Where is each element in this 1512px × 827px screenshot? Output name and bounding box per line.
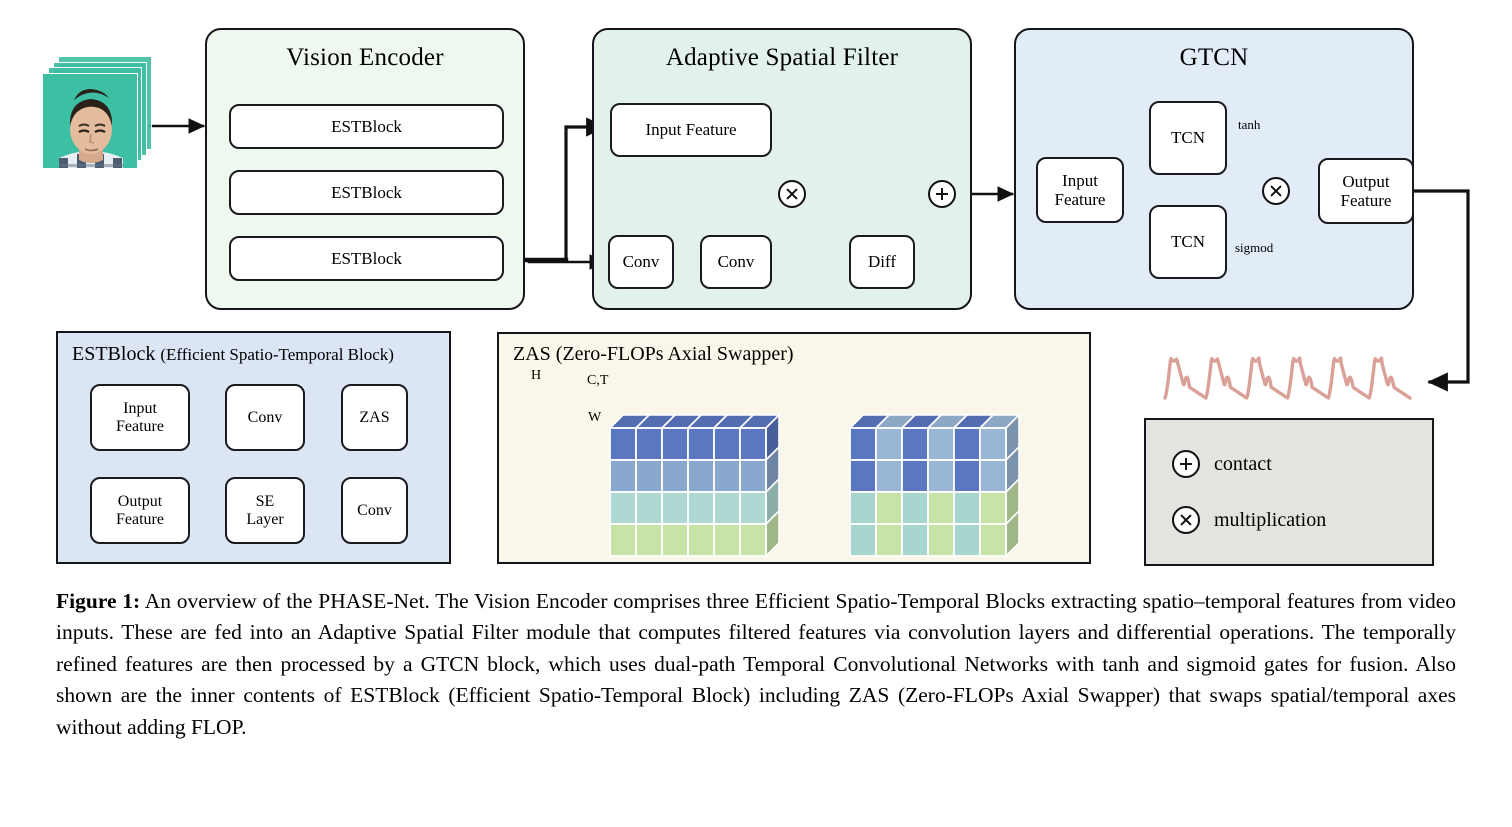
est-se-layer-label-line2: Layer — [246, 511, 283, 529]
est-input-feature-label-line2: Feature — [116, 418, 164, 436]
vision-encoder-module: Vision Encoder ESTBlock ESTBlock ESTBloc… — [205, 28, 525, 310]
gtcn-output-feature-node[interactable]: Output Feature — [1318, 158, 1414, 224]
estblock-panel-title-main: ESTBlock — [72, 343, 155, 365]
gtcn-input-feature-node[interactable]: Input Feature — [1036, 157, 1124, 223]
zas-panel-title: ZAS (Zero-FLOPs Axial Swapper) — [513, 343, 794, 366]
gtcn-output-feature-label-line2: Feature — [1341, 191, 1392, 210]
estblock-2[interactable]: ESTBlock — [229, 170, 504, 215]
gtcn-input-feature-label-line1: Input — [1062, 171, 1098, 190]
estblock-panel-title-sub: (Efficient Spatio-Temporal Block) — [160, 345, 394, 364]
plus-circle-icon — [1172, 450, 1200, 478]
asf-diff-label: Diff — [868, 252, 896, 271]
est-conv-bottom-node[interactable]: Conv — [341, 477, 408, 544]
est-conv-bottom-label: Conv — [357, 502, 392, 520]
est-zas-label: ZAS — [359, 409, 389, 427]
gtcn-tcn-top-label: TCN — [1171, 128, 1205, 147]
times-circle-icon — [1264, 179, 1288, 203]
legend-panel: contact multiplication — [1144, 418, 1434, 566]
zas-panel: ZAS (Zero-FLOPs Axial Swapper) — [497, 332, 1091, 564]
estblock-3-label: ESTBlock — [331, 249, 402, 268]
axis-h-label: H — [531, 368, 541, 384]
est-output-feature-label-line1: Output — [118, 493, 162, 511]
figure-caption: Figure 1: An overview of the PHASE-Net. … — [56, 586, 1456, 743]
times-circle-icon — [780, 182, 804, 206]
est-input-feature-node[interactable]: Input Feature — [90, 384, 190, 451]
plus-circle-icon — [930, 182, 954, 206]
est-conv-top-node[interactable]: Conv — [225, 384, 305, 451]
asf-conv-2-label: Conv — [718, 252, 755, 271]
legend-multiplication-label: multiplication — [1214, 509, 1326, 532]
estblock-2-label: ESTBlock — [331, 183, 402, 202]
est-input-feature-label-line1: Input — [123, 400, 157, 418]
times-circle-icon — [1172, 506, 1200, 534]
asf-input-feature-node[interactable]: Input Feature — [610, 103, 772, 157]
asf-diff-node[interactable]: Diff — [849, 235, 915, 289]
legend-item-contact: contact — [1172, 450, 1272, 478]
legend-item-multiplication: multiplication — [1172, 506, 1326, 534]
gtcn-tcn-bottom-node[interactable]: TCN — [1149, 205, 1227, 279]
axis-ct-label: C,T — [587, 373, 608, 389]
gtcn-tcn-bottom-label: TCN — [1171, 232, 1205, 251]
gtcn-output-feature-label-line1: Output — [1342, 172, 1389, 191]
asf-conv-1-label: Conv — [623, 252, 660, 271]
asf-conv-1-node[interactable]: Conv — [608, 235, 674, 289]
est-se-layer-label-line1: SE — [256, 493, 275, 511]
gtcn-title: GTCN — [1016, 44, 1412, 72]
figure-caption-text: An overview of the PHASE-Net. The Vision… — [56, 589, 1456, 739]
estblock-1[interactable]: ESTBlock — [229, 104, 504, 149]
asf-conv-2-node[interactable]: Conv — [700, 235, 772, 289]
estblock-1-label: ESTBlock — [331, 117, 402, 136]
est-se-layer-node[interactable]: SE Layer — [225, 477, 305, 544]
asf-multiplication-op — [778, 180, 806, 208]
gtcn-sigmod-gate-label: sigmod — [1235, 240, 1273, 256]
video-frame-stack — [42, 56, 158, 172]
gtcn-input-feature-label-line2: Feature — [1055, 190, 1106, 209]
est-zas-node[interactable]: ZAS — [341, 384, 408, 451]
adaptive-spatial-filter-title: Adaptive Spatial Filter — [594, 44, 970, 72]
est-output-feature-node[interactable]: Output Feature — [90, 477, 190, 544]
legend-contact-label: contact — [1214, 453, 1272, 476]
video-frame-0 — [42, 73, 138, 169]
asf-addition-op — [928, 180, 956, 208]
figure-caption-label: Figure 1: — [56, 589, 140, 613]
asf-input-feature-label: Input Feature — [645, 120, 736, 139]
estblock-3[interactable]: ESTBlock — [229, 236, 504, 281]
gtcn-tanh-gate-label: tanh — [1238, 117, 1260, 133]
estblock-panel-title: ESTBlock (Efficient Spatio-Temporal Bloc… — [72, 343, 394, 366]
gtcn-tcn-top-node[interactable]: TCN — [1149, 101, 1227, 175]
gtcn-multiplication-op — [1262, 177, 1290, 205]
rppg-signal-waveform — [1165, 358, 1410, 398]
vision-encoder-title: Vision Encoder — [207, 44, 523, 72]
figure-root: Vision Encoder ESTBlock ESTBlock ESTBloc… — [0, 0, 1512, 827]
axis-w-label: W — [588, 410, 601, 426]
face-thumbnail — [43, 74, 138, 169]
est-output-feature-label-line2: Feature — [116, 511, 164, 529]
est-conv-top-label: Conv — [248, 409, 283, 427]
